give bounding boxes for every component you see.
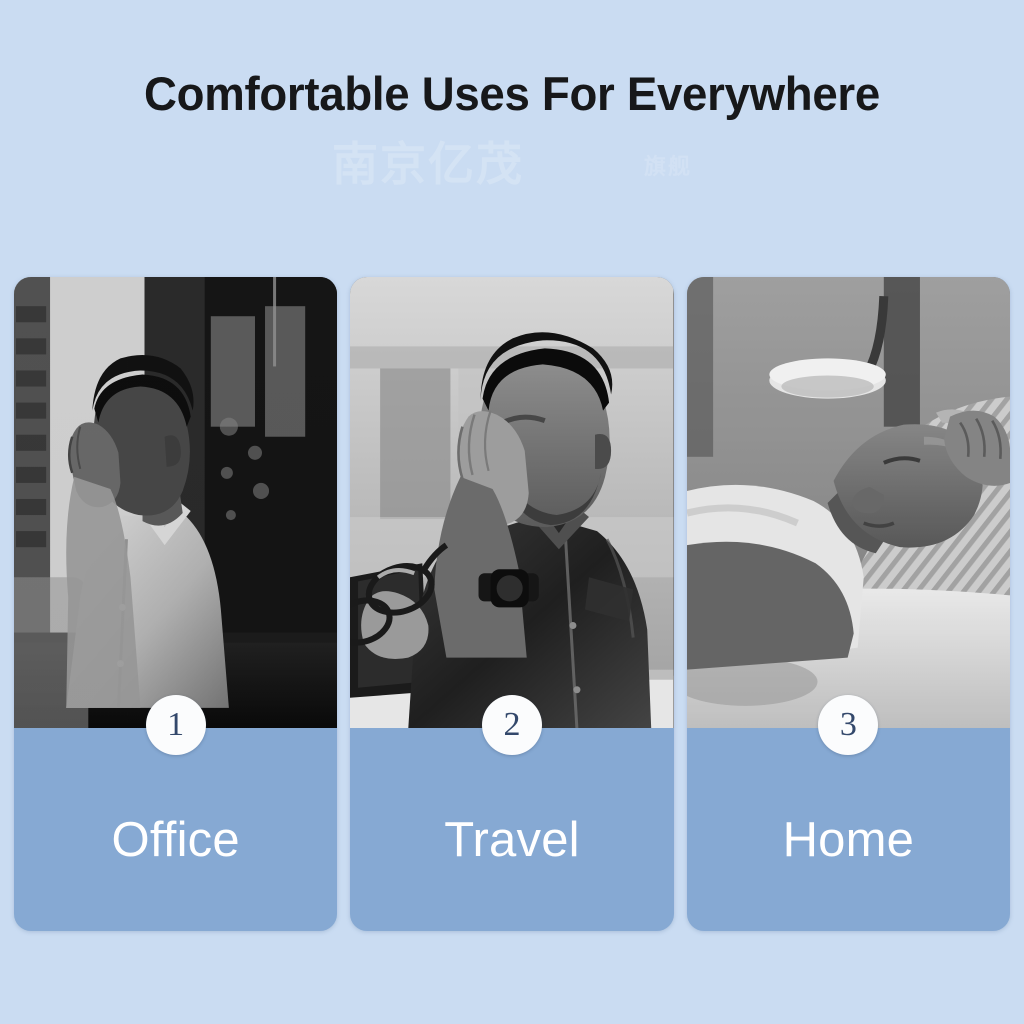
- home-photo: [687, 277, 1010, 728]
- office-photo: [14, 277, 337, 728]
- watermark-tail-text: 旗舰: [644, 154, 692, 179]
- office-label-text: Office: [112, 812, 240, 868]
- usecase-card-travel[interactable]: 2 Travel: [350, 277, 673, 931]
- step-badge-number: 3: [840, 708, 857, 742]
- step-badge-3: 3: [818, 695, 878, 755]
- usecase-card-office[interactable]: 1 Office: [14, 277, 337, 931]
- step-badge-number: 2: [503, 708, 520, 742]
- travel-photo: [350, 277, 673, 728]
- usecase-card-home[interactable]: 3 Home: [687, 277, 1010, 931]
- home-label-text: Home: [783, 812, 915, 868]
- travel-label-panel: Travel: [350, 728, 673, 931]
- page-title: Comfortable Uses For Everywhere: [15, 66, 1008, 121]
- step-badge-1: 1: [146, 695, 206, 755]
- step-badge-2: 2: [482, 695, 542, 755]
- watermark-text: 南京亿茂: [332, 138, 524, 190]
- step-badge-number: 1: [167, 708, 184, 742]
- office-label-panel: Office: [14, 728, 337, 931]
- watermark: 南京亿茂旗舰: [0, 128, 1024, 194]
- travel-label-text: Travel: [444, 812, 580, 868]
- usecase-card-row: 1 Office: [14, 277, 1010, 931]
- home-label-panel: Home: [687, 728, 1010, 931]
